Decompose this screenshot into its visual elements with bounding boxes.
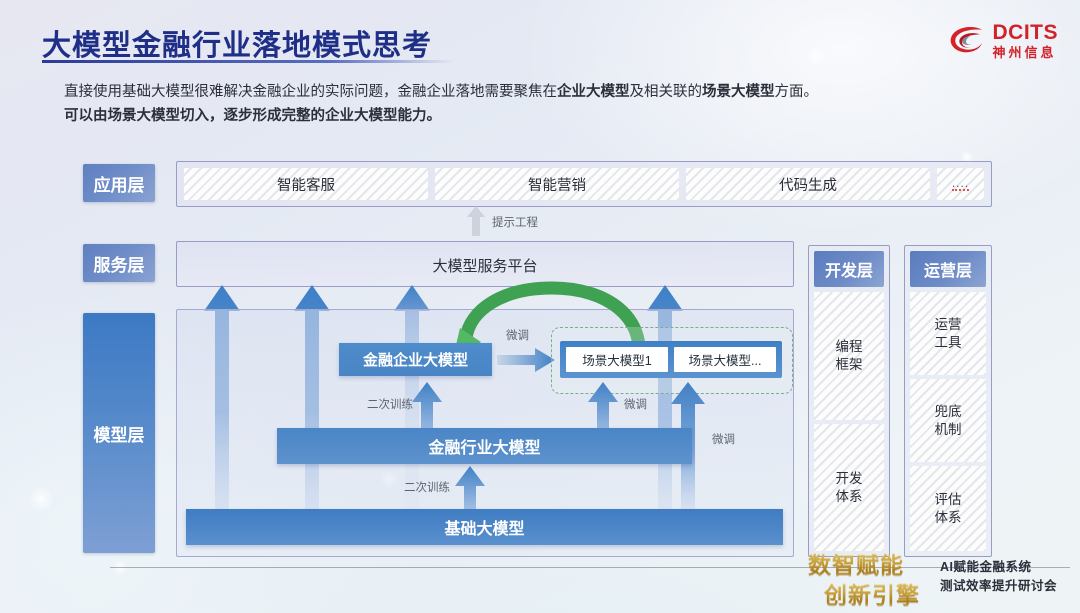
subtitle-seg: 及相关联的 — [630, 84, 703, 100]
ops-cell-fallback-mechanism[interactable]: 兜底 机制 — [910, 379, 986, 462]
dev-cell-line-1: 开发 — [836, 470, 863, 488]
subtitle-line-2: 可以由场景大模型切入，逐步形成完整的企业大模型能力。 — [64, 104, 441, 125]
scene-model-more[interactable]: 场景大模型... — [674, 347, 776, 372]
retrain-label-1: 二次训练 — [367, 396, 413, 412]
development-layer-header: 开发层 — [814, 251, 884, 287]
layer-tab-service: 服务层 — [83, 244, 155, 282]
prompt-engineering-label: 提示工程 — [492, 214, 538, 230]
event-brand-logo: 数智赋能 创新引擎 — [808, 546, 933, 604]
fine-tune-label-3: 微调 — [712, 431, 735, 447]
app-item-smart-marketing[interactable]: 智能营销 — [435, 168, 679, 200]
service-platform-label: 大模型服务平台 — [177, 255, 793, 276]
retrain-arrow-enterprise-icon — [411, 382, 443, 432]
app-item-smart-service[interactable]: 智能客服 — [184, 168, 428, 200]
ops-cell-line-1: 运营 — [935, 316, 962, 334]
scene-model-1[interactable]: 场景大模型1 — [566, 347, 668, 372]
layer-tab-application: 应用层 — [83, 164, 155, 202]
logo-chinese: 神州信息 — [993, 46, 1059, 59]
event-line-2: 测试效率提升研讨会 — [940, 577, 1057, 596]
layer-tab-model: 模型层 — [83, 313, 155, 553]
app-item-more-label: .... — [952, 178, 969, 191]
industry-model-box[interactable]: 金融行业大模型 — [277, 428, 692, 464]
ops-cell-line-1: 兜底 — [935, 403, 962, 421]
operations-layer-header: 运营层 — [910, 251, 986, 287]
dev-cell-line-2: 框架 — [836, 356, 863, 374]
ops-cell-evaluation-system[interactable]: 评估 体系 — [910, 466, 986, 551]
ops-cell-line-2: 工具 — [935, 334, 962, 352]
application-layer-panel: 智能客服 智能营销 代码生成 .... — [176, 161, 992, 207]
subtitle-seg: 直接使用基础大模型很难解决金融企业的实际问题，金融企业落地需要聚焦在 — [64, 84, 557, 100]
app-item-more[interactable]: .... — [937, 168, 984, 200]
subtitle-seg-bold: 场景大模型 — [702, 84, 775, 100]
ops-cell-line-2: 体系 — [935, 509, 962, 527]
ops-cell-line-1: 评估 — [935, 491, 962, 509]
base-model-box[interactable]: 基础大模型 — [186, 509, 783, 545]
dev-cell-development-system[interactable]: 开发 体系 — [814, 424, 884, 551]
ops-cell-line-2: 机制 — [935, 421, 962, 439]
subtitle-seg-bold: 企业大模型 — [557, 84, 630, 100]
logo-text: DCITS 神州信息 — [993, 22, 1059, 59]
subtitle-line-1: 直接使用基础大模型很难解决金融企业的实际问题，金融企业落地需要聚焦在企业大模型及… — [64, 80, 818, 101]
dcits-logo: DCITS 神州信息 — [948, 22, 1059, 59]
ops-cell-operation-tools[interactable]: 运营 工具 — [910, 292, 986, 375]
dev-cell-line-2: 体系 — [836, 488, 863, 506]
decorative-speck — [112, 560, 128, 576]
logo-english: DCITS — [993, 22, 1059, 43]
event-title: AI赋能金融系统 测试效率提升研讨会 — [940, 558, 1057, 596]
fine-tune-label-1: 微调 — [506, 327, 529, 343]
title-underline — [42, 60, 454, 63]
brand-line-2: 创新引擎 — [824, 576, 933, 610]
fine-tune-arrow-scene-icon — [587, 382, 619, 432]
dev-cell-programming-framework[interactable]: 编程 框架 — [814, 292, 884, 420]
scene-models-box: 场景大模型1 场景大模型... — [560, 341, 782, 378]
fine-tune-horizontal-arrow-icon — [497, 348, 555, 372]
subtitle-seg: 方面。 — [775, 84, 819, 100]
page-title: 大模型金融行业落地模式思考 — [42, 22, 432, 64]
decorative-speck — [28, 486, 54, 512]
dcits-swoosh-icon — [948, 24, 986, 58]
development-layer-column: 开发层 编程 框架 开发 体系 — [808, 245, 890, 557]
prompt-engineering-arrow-icon — [466, 206, 486, 236]
enterprise-model-box[interactable]: 金融企业大模型 — [339, 343, 492, 376]
retrain-arrow-industry-icon — [454, 466, 486, 512]
fine-tune-label-2: 微调 — [624, 396, 647, 412]
app-item-code-generation[interactable]: 代码生成 — [686, 168, 930, 200]
slide-canvas: 大模型金融行业落地模式思考 直接使用基础大模型很难解决金融企业的实际问题，金融企… — [0, 0, 1080, 613]
operations-layer-column: 运营层 运营 工具 兜底 机制 评估 体系 — [904, 245, 992, 557]
retrain-label-2: 二次训练 — [404, 479, 450, 495]
decorative-speck — [806, 46, 826, 66]
dev-cell-line-1: 编程 — [836, 338, 863, 356]
event-line-1: AI赋能金融系统 — [940, 558, 1057, 577]
brand-line-1: 数智赋能 — [808, 546, 933, 580]
